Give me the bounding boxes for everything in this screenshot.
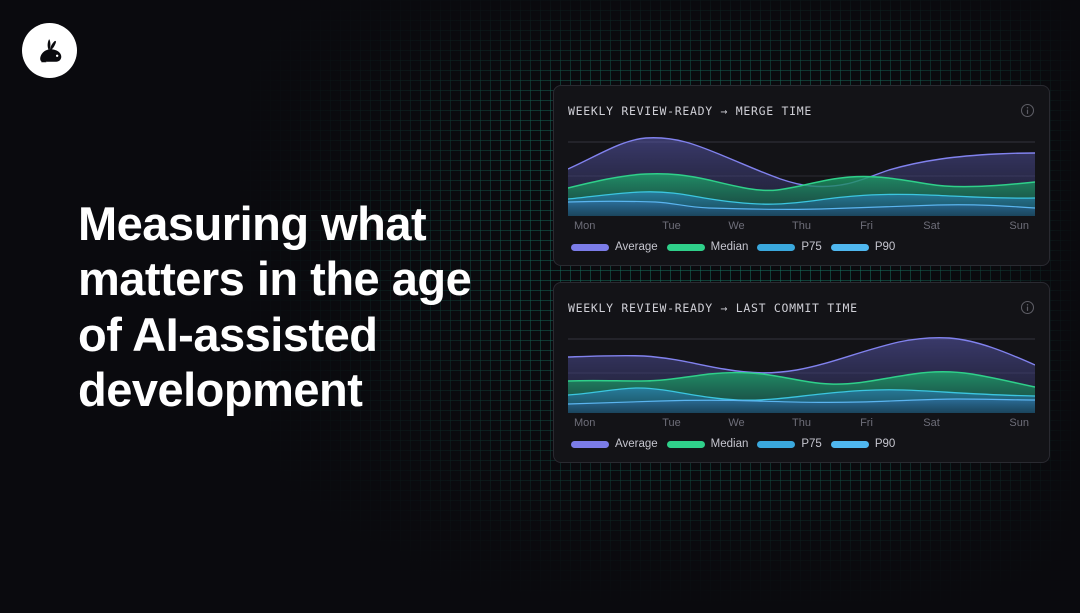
axis-label: Sun <box>964 220 1033 232</box>
card-header: WEEKLY REVIEW-READY → LAST COMMIT TIME <box>568 300 1035 315</box>
page-title: Measuring what matters in the age of AI-… <box>78 196 518 418</box>
legend-label: P75 <box>801 241 821 253</box>
chart-card-merge-time[interactable]: WEEKLY REVIEW-READY → MERGE TIME <box>553 85 1050 266</box>
axis-label: We <box>704 417 769 429</box>
legend-item-median[interactable]: Median <box>667 241 749 253</box>
legend-label: Median <box>711 438 749 450</box>
info-icon[interactable] <box>1020 103 1035 118</box>
card-header: WEEKLY REVIEW-READY → MERGE TIME <box>568 103 1035 118</box>
axis-label: Sat <box>899 220 964 232</box>
rabbit-icon <box>31 32 69 70</box>
area-chart-merge-time <box>568 132 1035 216</box>
axis-label: Tue <box>639 220 704 232</box>
axis-label: Fri <box>834 220 899 232</box>
legend-swatch-median <box>667 441 705 448</box>
legend-item-p90[interactable]: P90 <box>831 241 895 253</box>
axis-label: Mon <box>570 220 639 232</box>
chart-legend: Average Median P75 P90 <box>568 241 1035 253</box>
axis-label: Tue <box>639 417 704 429</box>
axis-label: Mon <box>570 417 639 429</box>
legend-item-p75[interactable]: P75 <box>757 241 821 253</box>
legend-label: P90 <box>875 438 895 450</box>
legend-label: Average <box>615 241 658 253</box>
card-title: WEEKLY REVIEW-READY → LAST COMMIT TIME <box>568 301 858 315</box>
legend-label: P90 <box>875 241 895 253</box>
legend-swatch-median <box>667 244 705 251</box>
legend-swatch-p75 <box>757 244 795 251</box>
info-icon[interactable] <box>1020 300 1035 315</box>
legend-item-p90[interactable]: P90 <box>831 438 895 450</box>
legend-label: P75 <box>801 438 821 450</box>
legend-swatch-average <box>571 244 609 251</box>
axis-label: Sun <box>964 417 1033 429</box>
legend-item-average[interactable]: Average <box>571 241 658 253</box>
brand-logo <box>22 23 77 78</box>
charts-panel: WEEKLY REVIEW-READY → MERGE TIME <box>553 85 1050 479</box>
legend-swatch-average <box>571 441 609 448</box>
legend-swatch-p90 <box>831 244 869 251</box>
axis-label: Thu <box>769 417 834 429</box>
chart-legend: Average Median P75 P90 <box>568 438 1035 450</box>
area-chart-last-commit-time <box>568 329 1035 413</box>
legend-item-median[interactable]: Median <box>667 438 749 450</box>
legend-swatch-p90 <box>831 441 869 448</box>
axis-label: Sat <box>899 417 964 429</box>
legend-label: Median <box>711 241 749 253</box>
legend-item-average[interactable]: Average <box>571 438 658 450</box>
x-axis-labels: Mon Tue We Thu Fri Sat Sun <box>568 417 1035 429</box>
axis-label: We <box>704 220 769 232</box>
x-axis-labels: Mon Tue We Thu Fri Sat Sun <box>568 220 1035 232</box>
legend-item-p75[interactable]: P75 <box>757 438 821 450</box>
card-title: WEEKLY REVIEW-READY → MERGE TIME <box>568 104 812 118</box>
axis-label: Thu <box>769 220 834 232</box>
axis-label: Fri <box>834 417 899 429</box>
chart-card-last-commit-time[interactable]: WEEKLY REVIEW-READY → LAST COMMIT TIME <box>553 282 1050 463</box>
legend-label: Average <box>615 438 658 450</box>
legend-swatch-p75 <box>757 441 795 448</box>
